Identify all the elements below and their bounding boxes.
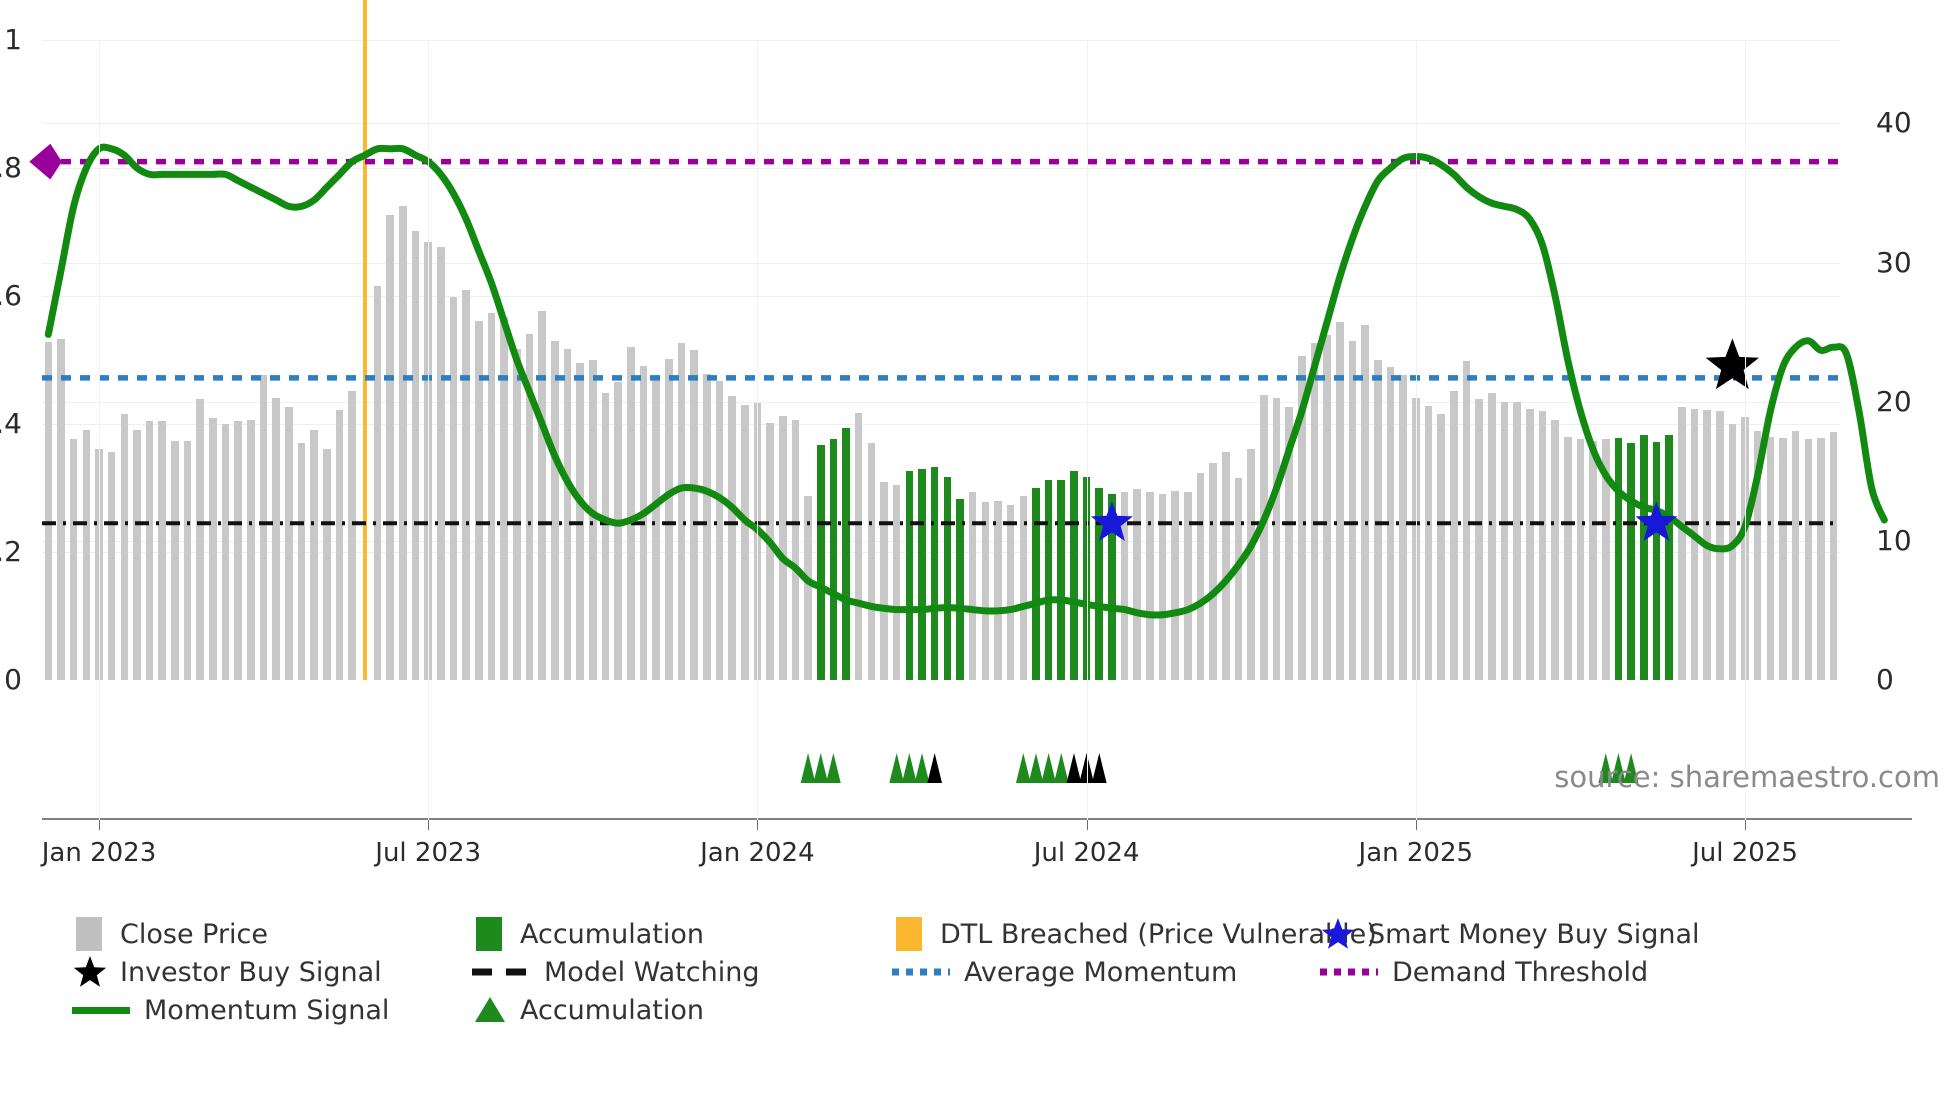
x-axis-tick-label: Jul 2023 [328,838,528,868]
legend-swatch [76,917,102,951]
x-axis-tick-label: Jan 2025 [1316,838,1516,868]
y-axis-right-tick-label: 20 [1876,385,1956,418]
legend-item-smart-money[interactable]: Smart Money Buy Signal [1320,915,1700,953]
legend-dotted-line-icon [1320,955,1378,989]
legend-star-icon [1320,917,1354,951]
legend-star-icon [72,955,106,989]
legend-swatch [476,917,502,951]
legend-item-label: Demand Threshold [1392,957,1648,988]
chart-legend: Close PriceAccumulationDTL Breached (Pri… [72,915,1932,1029]
legend-item-close-price[interactable]: Close Price [72,915,268,953]
legend-item-model-watching[interactable]: Model Watching [472,953,759,991]
legend-item-accumulation-triangle[interactable]: Accumulation [472,991,704,1029]
smart-money-buy-signal-star [1091,501,1133,541]
x-axis-guide [757,40,758,820]
legend-swatch [896,917,922,951]
accumulation-triangle-black [1092,753,1107,783]
legend-item-label: Momentum Signal [144,995,389,1026]
legend-item-label: Average Momentum [964,957,1237,988]
accumulation-triangle-black [1067,753,1082,783]
y-axis-left-tick-label: 0.8 [0,151,22,184]
accumulation-triangle-green [1041,753,1056,783]
y-axis-right-tick-label: 30 [1876,246,1956,279]
x-axis-guide [1745,40,1746,820]
accumulation-triangle-green [801,753,816,783]
accumulation-triangle-green [1054,753,1069,783]
legend-item-label: Smart Money Buy Signal [1368,919,1700,950]
x-axis-guide [428,40,429,820]
accumulation-triangle-green [889,753,904,783]
legend-square-icon [892,917,926,951]
x-axis-tick-label: Jul 2024 [987,838,1187,868]
x-axis-tick-label: Jan 2023 [0,838,199,868]
accumulation-triangle-green [1016,753,1031,783]
legend-item-label: DTL Breached (Price Vulnerable) [940,919,1377,950]
legend-square-icon [72,917,106,951]
x-axis-guide [1087,40,1088,820]
legend-item-label: Investor Buy Signal [120,957,382,988]
accumulation-triangle-green [902,753,917,783]
legend-square-icon [472,917,506,951]
y-axis-right-tick-label: 40 [1876,106,1956,139]
x-axis-line [42,818,1912,820]
legend-item-demand-threshold[interactable]: Demand Threshold [1320,953,1648,991]
x-axis-tick-label: Jul 2025 [1645,838,1845,868]
y-axis-left-tick-label: 0.6 [0,279,22,312]
legend-dashed-line-icon [472,955,530,989]
line-and-marker-overlay [42,40,1840,680]
legend-item-label: Accumulation [520,995,704,1026]
legend-row: Investor Buy SignalModel WatchingAverage… [72,953,1932,991]
x-axis-guide [99,40,100,820]
legend-item-momentum-signal[interactable]: Momentum Signal [72,991,389,1029]
legend-item-investor-buy[interactable]: Investor Buy Signal [72,953,382,991]
accumulation-triangle-green [1029,753,1044,783]
x-axis-tick-label: Jan 2024 [657,838,857,868]
accumulation-triangle-green [915,753,930,783]
momentum-signal-line [48,147,1884,615]
legend-item-label: Accumulation [520,919,704,950]
accumulation-triangle-green [826,753,841,783]
legend-item-label: Model Watching [544,957,759,988]
accumulation-triangle-green [813,753,828,783]
y-axis-left-tick-label: 0.4 [0,407,22,440]
x-axis-guide [1416,40,1417,820]
legend-row: Close PriceAccumulationDTL Breached (Pri… [72,915,1932,953]
legend-item-accumulation-bar[interactable]: Accumulation [472,915,704,953]
demand-marker [29,144,62,180]
plot-area [42,40,1840,680]
legend-dotted-line-icon [892,955,950,989]
legend-item-label: Close Price [120,919,268,950]
y-axis-right-tick-label: 0 [1876,663,1956,696]
chart-root: 00.20.40.60.81 010203040 Jan 2023Jul 202… [0,0,1960,1102]
legend-line-icon [72,993,130,1027]
legend-item-average-momentum[interactable]: Average Momentum [892,953,1237,991]
y-axis-right-tick-label: 10 [1876,524,1956,557]
investor-buy-signal-star [1706,338,1759,389]
legend-triangle-icon [472,993,506,1027]
source-attribution: source: sharemaestro.com [1554,760,1940,794]
legend-row: Momentum SignalAccumulation [72,991,1932,1029]
y-axis-left-tick-label: 1 [0,23,22,56]
y-axis-left-tick-label: 0 [0,663,22,696]
y-axis-left-tick-label: 0.2 [0,535,22,568]
legend-item-dtl-breached[interactable]: DTL Breached (Price Vulnerable) [892,915,1377,953]
accumulation-triangle-black [927,753,942,783]
